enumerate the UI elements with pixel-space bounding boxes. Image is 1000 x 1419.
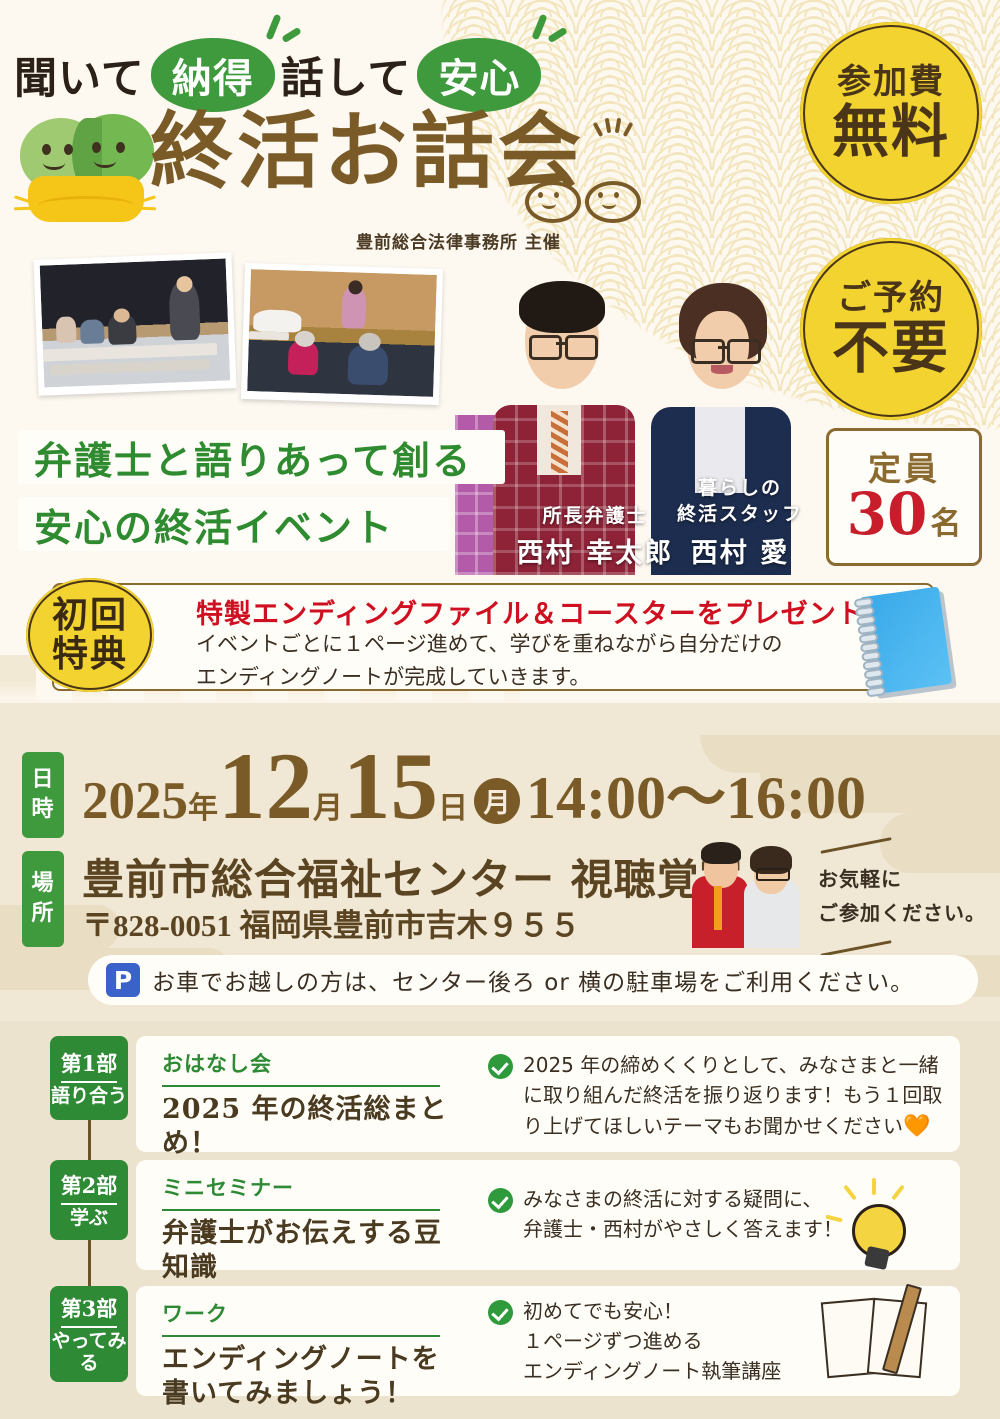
parking-icon: P (106, 963, 140, 997)
date-year-unit: 年 (188, 783, 218, 827)
date-time-range: 14:00〜16:00 (526, 749, 866, 836)
program-3-badge-top: 第3部 (61, 1293, 118, 1323)
speakers-photo: 所長弁護士 西村 幸太郎 暮らしの 終活スタッフ 西村 愛 (455, 255, 800, 575)
staff-photo (692, 840, 812, 948)
page-title: 終活お話会 (150, 110, 585, 193)
program-3-desc-line3: エンディングノート執筆講座 (523, 1356, 781, 1386)
program-1-badge-top: 第1部 (61, 1048, 118, 1078)
program-2-title: 弁護士がお伝えする豆知識 (162, 1217, 462, 1285)
program-1-desc-line3: り上げてほしいテーマもお聞かせください (523, 1114, 903, 1138)
place-tag-line2: 所 (31, 899, 54, 929)
date-month-unit: 月 (313, 783, 343, 827)
program-3-badge-bottom: やってみる (50, 1331, 128, 1375)
capacity-number: 30 (847, 485, 928, 543)
parking-text: お車でお越しの方は、センター後ろ or 横の駐車場をご利用ください。 (152, 963, 914, 997)
badge-free-value: 無料 (832, 102, 950, 162)
program-3-description: 初めてでも安心！ １ページずつ進める エンディングノート執筆講座 (523, 1296, 781, 1386)
event-photo-2 (241, 263, 443, 405)
date-day-unit: 日 (438, 783, 468, 827)
bonus-badge-line2: 特典 (52, 635, 128, 674)
program-3-title: エンディングノートを 書いてみましょう！ (162, 1343, 462, 1411)
casual-note-line2: ご参加ください。 (818, 896, 986, 930)
date-weekday: 月 (474, 778, 520, 824)
program-2-badge-bottom: 学ぶ (70, 1208, 108, 1230)
program-badge-3: 第3部 やってみる (50, 1286, 128, 1382)
casual-note-line1: お気軽に (818, 862, 986, 896)
program-2-description: みなさまの終活に対する疑問に、 弁護士・西村がやさしく答えます！ (523, 1184, 843, 1244)
date-day: 15 (343, 744, 438, 830)
program-2-desc-line1: みなさまの終活に対する疑問に、 (523, 1184, 843, 1214)
program-3-desc-line1: 初めてでも安心！ (523, 1296, 781, 1326)
title-smiley-icon (525, 181, 637, 217)
capacity-unit: 名 (930, 509, 961, 540)
program-2-badge-top: 第2部 (61, 1170, 118, 1200)
bonus-heading: 特製エンディングファイル＆コースターをプレゼント！ (196, 592, 893, 631)
program-1-desc-line2: に取り組んだ終活を振り返ります！もう１回取 (523, 1080, 942, 1110)
program-card-1: おはなし会 2025 年の終活総まとめ！ 2025 年の締めくくりとして、みなさ… (136, 1036, 960, 1152)
bean-mascot-icon (16, 112, 156, 220)
title-crown-icon (596, 118, 630, 140)
date-month: 12 (218, 744, 313, 830)
bonus-body-line1: イベントごとに１ページ進めて、学びを重ねながら自分だけの (196, 628, 846, 661)
casual-note: お気軽に ご参加ください。 (818, 862, 986, 930)
speaker-2-role-line1: 暮らしの (660, 477, 820, 501)
catchcopy-line-2: 安心の終活イベント (18, 497, 450, 551)
program-2-desc-line2: 弁護士・西村がやさしく答えます！ (523, 1214, 843, 1244)
lightbulb-icon (826, 1178, 922, 1276)
bonus-badge: 初回 特典 (26, 578, 154, 692)
date-year: 2025 (82, 771, 188, 831)
place-tag: 場 所 (22, 851, 64, 947)
badge-reservation-label: ご予約 (837, 280, 945, 317)
heart-icon: 🧡 (903, 1114, 930, 1139)
speaker-2-name: 西村 愛 (660, 531, 820, 570)
headline-part-1: 聞いて (14, 44, 145, 106)
speaker-2-role-line2: 終活スタッフ (650, 503, 830, 527)
datetime-tag: 日 時 (22, 752, 64, 838)
flyer-page: 聞いて 納得 話して 安心 終活お話会 (0, 0, 1000, 1419)
datetime-line: 2025 年 12 月 15 日 月 14:00〜16:00 (82, 744, 982, 840)
organizer-text: 豊前総合法律事務所 主催 (356, 228, 561, 253)
venue-name: 豊前市総合福祉センター 視聴覚室 (82, 846, 743, 907)
check-icon (488, 1054, 513, 1079)
headline-part-3: 話して (281, 44, 412, 106)
bonus-badge-line1: 初回 (52, 596, 128, 635)
program-1-kicker: おはなし会 (162, 1048, 462, 1078)
badge-free: 参加費 無料 (800, 22, 982, 204)
program-badge-1: 第1部 語り合う (50, 1036, 128, 1120)
program-1-description: 2025 年の締めくくりとして、みなさまと一緒 に取り組んだ終活を振り返ります！… (523, 1050, 942, 1143)
notebook-icon (855, 582, 965, 702)
place-tag-line1: 場 (31, 869, 54, 899)
headline-bubble-nattoku: 納得 (151, 38, 275, 112)
headline-bubble-anshin: 安心 (417, 38, 541, 112)
check-icon (488, 1188, 513, 1213)
program-1-badge-bottom: 語り合う (51, 1086, 127, 1108)
parking-bar: P お車でお越しの方は、センター後ろ or 横の駐車場をご利用ください。 (88, 955, 978, 1005)
program-badge-2: 第2部 学ぶ (50, 1160, 128, 1240)
badge-reservation-value: 不要 (832, 318, 950, 378)
program-3-kicker: ワーク (162, 1298, 462, 1328)
badge-no-reservation: ご予約 不要 (800, 238, 982, 420)
bonus-body-line2: エンディングノートが完成していきます。 (196, 661, 846, 694)
program-3-desc-line2: １ページずつ進める (523, 1326, 781, 1356)
event-photo-1 (33, 252, 236, 396)
program-2-kicker: ミニセミナー (162, 1172, 462, 1202)
venue-address: 〒828-0051 福岡県豊前市吉木９５５ (82, 900, 581, 945)
badge-free-label: 参加費 (837, 64, 945, 101)
program-1-title: 2025 年の終活総まとめ！ (162, 1093, 462, 1161)
bonus-body: イベントごとに１ページ進めて、学びを重ねながら自分だけの エンディングノートが完… (196, 628, 846, 693)
check-icon (488, 1300, 513, 1325)
program-1-desc-line1: 2025 年の締めくくりとして、みなさまと一緒 (523, 1050, 942, 1080)
open-book-icon (822, 1290, 934, 1382)
datetime-tag-line2: 時 (31, 795, 54, 825)
capacity-box: 定員 30 名 (826, 428, 982, 566)
catchcopy-line-1: 弁護士と語りあって創る (18, 430, 505, 484)
datetime-tag-line1: 日 (31, 765, 54, 795)
